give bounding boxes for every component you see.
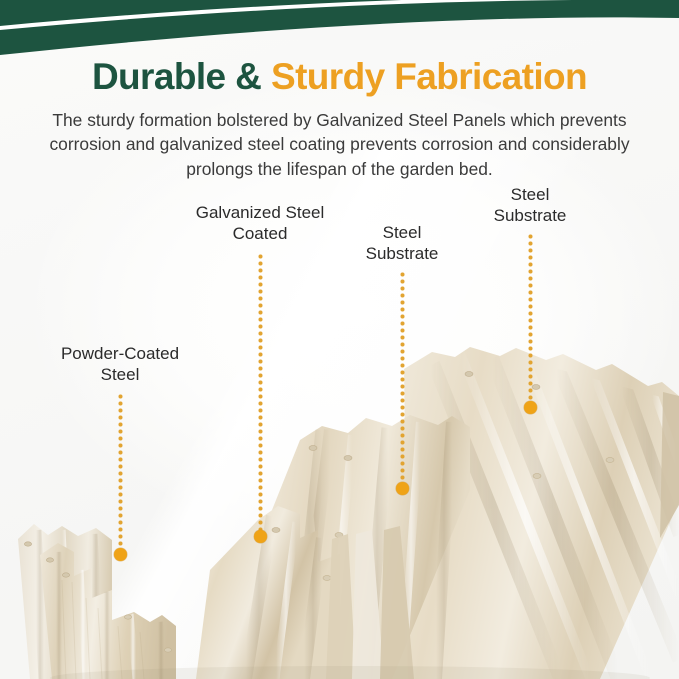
page-subtitle: The sturdy formation bolstered by Galvan…	[18, 108, 661, 181]
callout-label-powder-coated-steel: Powder-Coated Steel	[20, 343, 220, 385]
leader-dots	[258, 254, 263, 537]
leader-endpoint-dot	[524, 401, 537, 414]
callout-label-steel-substrate-right: Steel Substrate	[460, 184, 600, 226]
leader-dots	[528, 234, 533, 408]
infographic-canvas: Durable & Sturdy Fabrication The sturdy …	[0, 0, 679, 679]
leader-line-powder-coated-steel	[118, 394, 123, 555]
leader-endpoint-dot	[396, 482, 409, 495]
leader-line-steel-substrate-right	[528, 234, 533, 408]
leader-line-steel-substrate-center	[400, 272, 405, 489]
callout-label-steel-substrate-center: Steel Substrate	[332, 222, 472, 264]
callout-label-galvanized-steel-coated: Galvanized Steel Coated	[160, 202, 360, 244]
title-part-orange: Sturdy Fabrication	[271, 56, 587, 97]
leader-dots	[118, 394, 123, 555]
leader-endpoint-dot	[254, 530, 267, 543]
page-title: Durable & Sturdy Fabrication	[0, 58, 679, 95]
leader-line-galvanized-steel-coated	[258, 254, 263, 537]
title-part-green: Durable &	[92, 56, 261, 97]
leader-endpoint-dot	[114, 548, 127, 561]
leader-dots	[400, 272, 405, 489]
